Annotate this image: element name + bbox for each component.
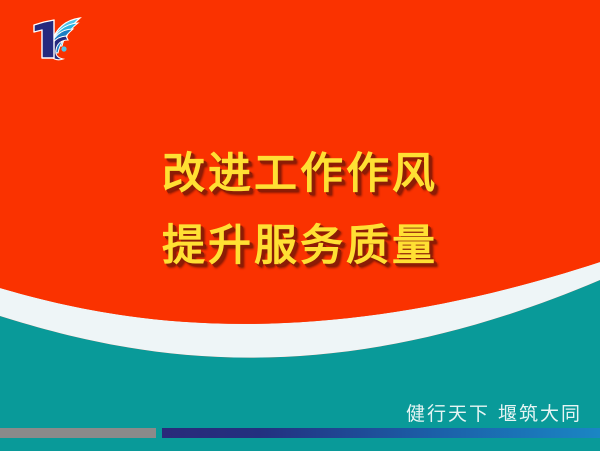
logo-highlight-dot [61,46,66,51]
slide-tagline: 健行天下 堰筑大同 [406,399,582,426]
slide-background-art [0,0,600,451]
title-slide: 改进工作作风 提升服务质量 健行天下 堰筑大同 [0,0,600,451]
logo-numeral-one [34,20,54,58]
footer-bar-gray [0,428,156,438]
footer-bar-blue [162,428,600,438]
company-logo [22,12,88,64]
orange-ellipse-shape [0,0,600,324]
logo-mark-icon [22,12,88,64]
